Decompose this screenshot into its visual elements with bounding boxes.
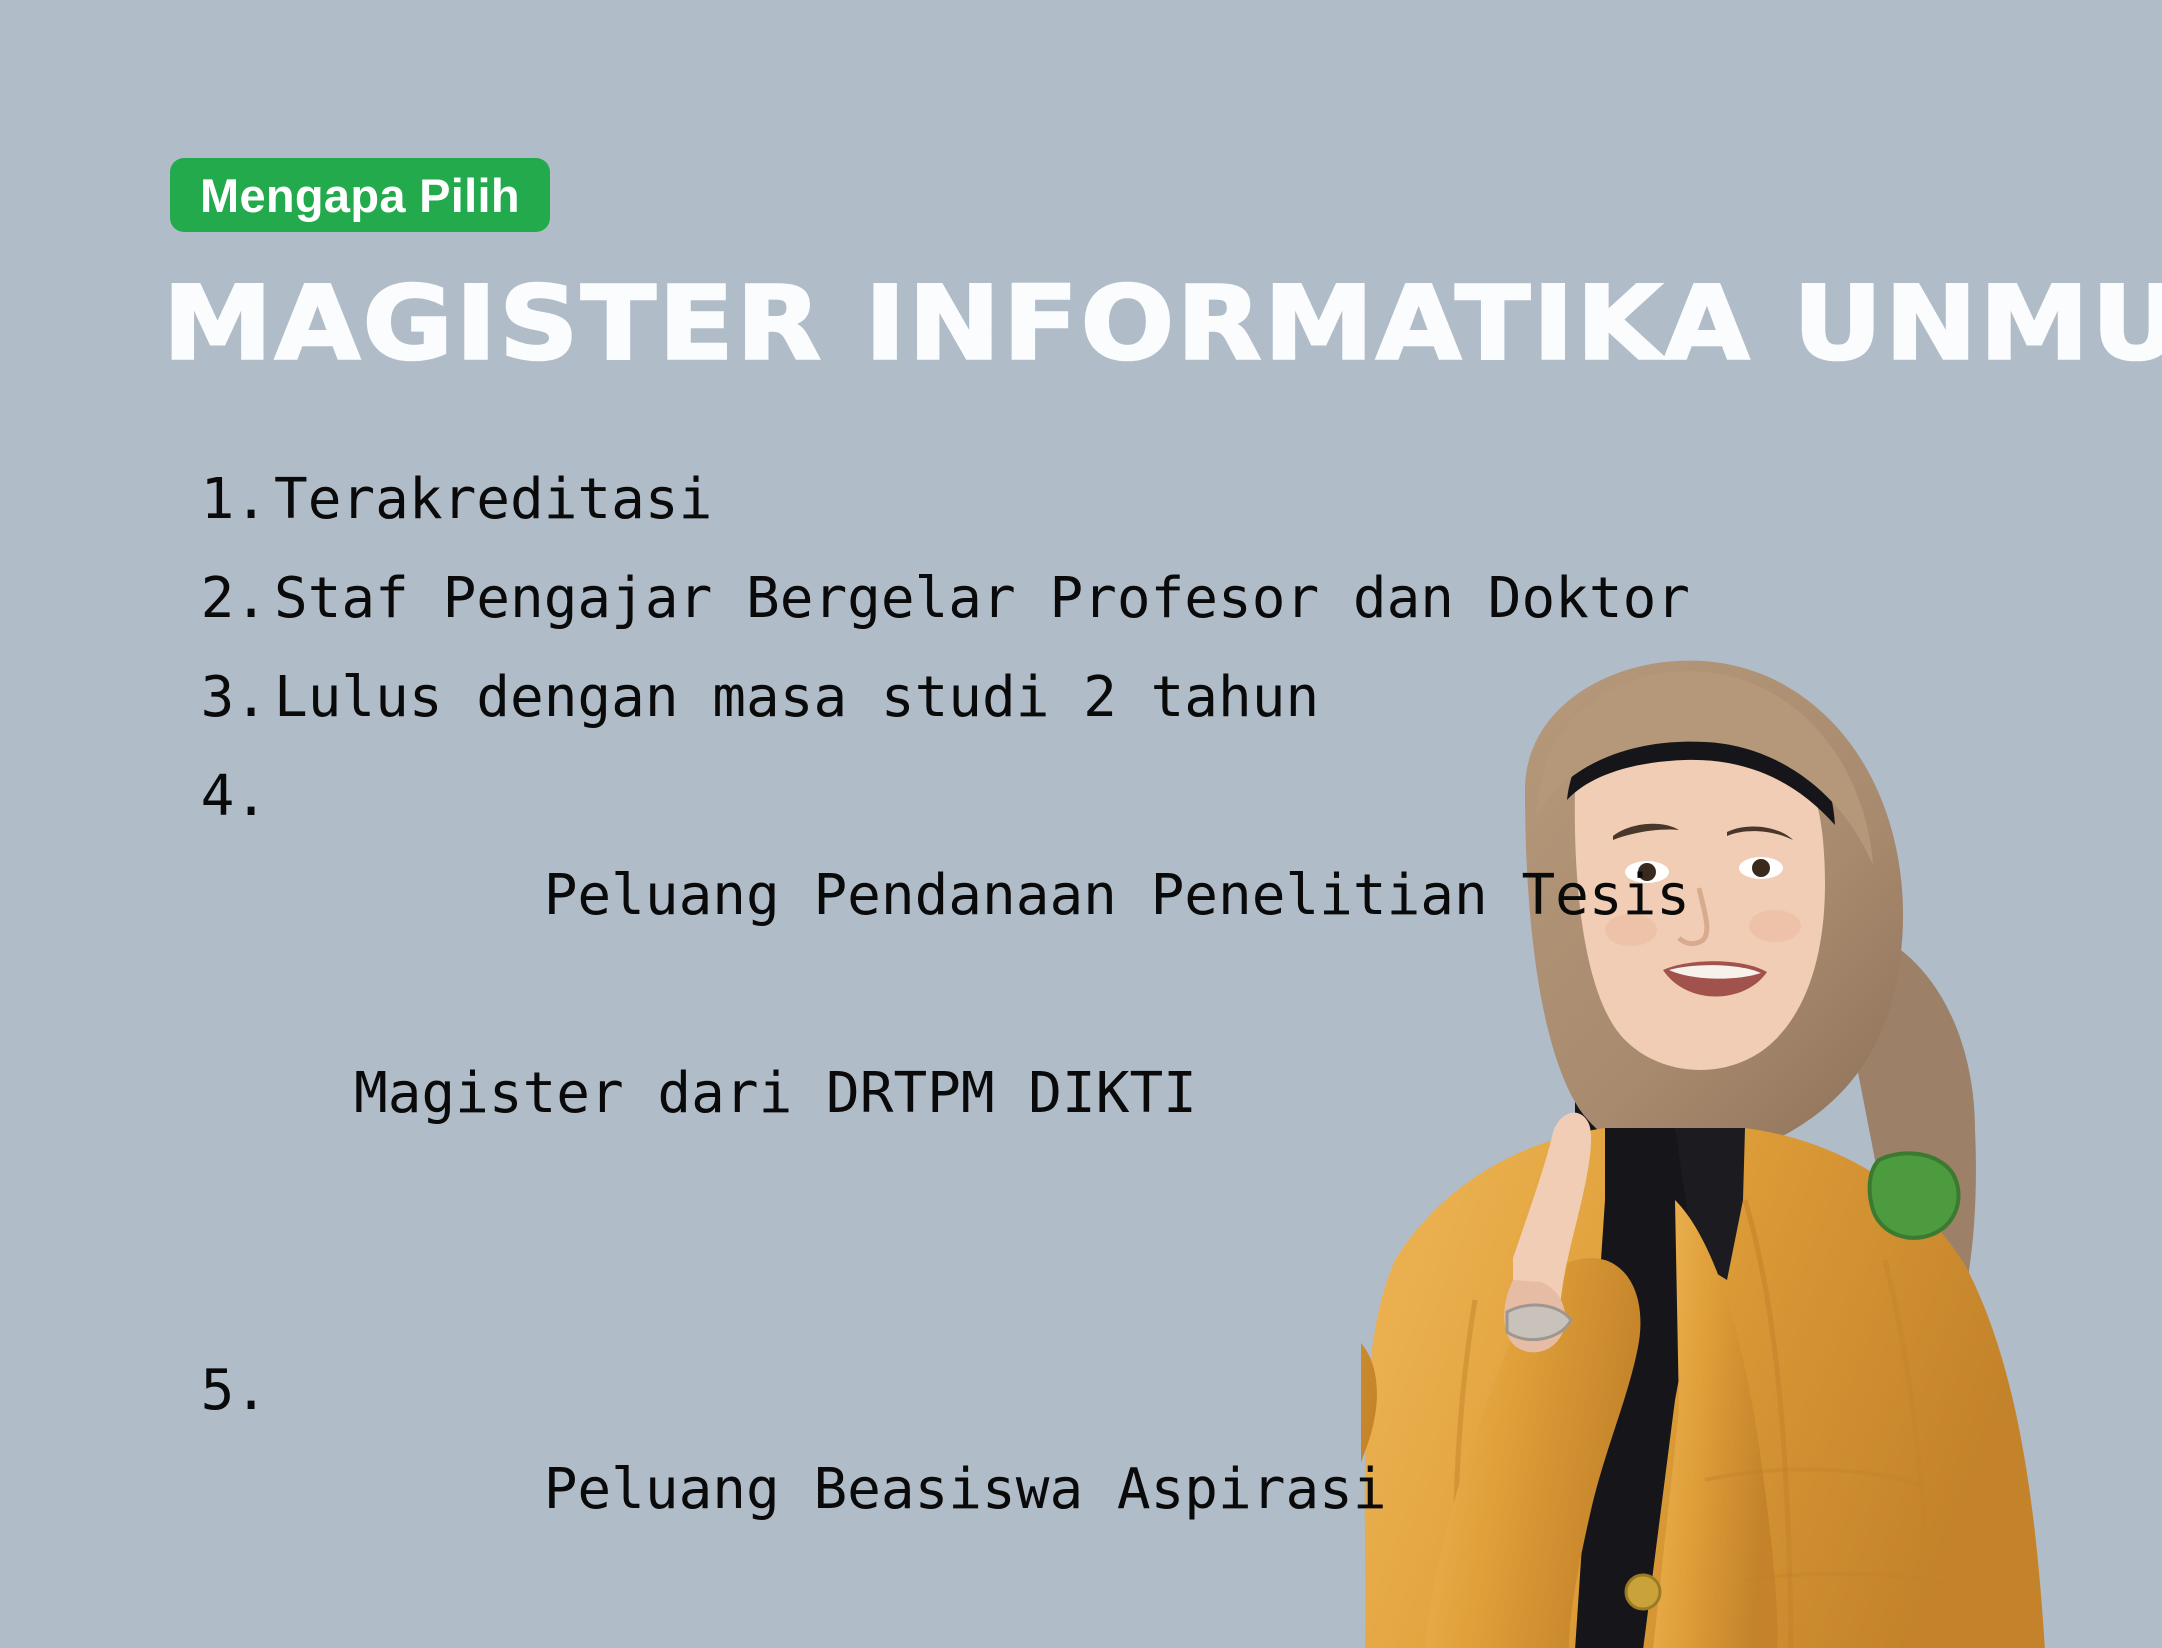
list-item-number: 1.: [186, 450, 274, 549]
list-item-line1: Peluang Beasiswa Aspirasi: [544, 1457, 1387, 1522]
list-item-number: 2.: [186, 549, 274, 648]
list-item: 4. Peluang Pendanaan Penelitian Tesis Ma…: [186, 747, 1906, 1341]
list-item-text: Lulus dengan masa studi 2 tahun: [274, 648, 1906, 747]
eyebrow-badge: Mengapa Pilih: [170, 158, 550, 232]
poster-canvas: Mengapa Pilih MAGISTER INFORMATIKA UNMUL: [0, 0, 2162, 1648]
list-item-number: 3.: [186, 648, 274, 747]
page-title: MAGISTER INFORMATIKA UNMUL: [163, 276, 1902, 371]
list-item-line2: dari KOMINFO: [274, 1638, 1906, 1648]
list-item-number: 5.: [186, 1341, 274, 1440]
list-item: 2. Staf Pengajar Bergelar Profesor dan D…: [186, 549, 1906, 648]
list-item: 3. Lulus dengan masa studi 2 tahun: [186, 648, 1906, 747]
list-item-line2: Magister dari DRTPM DIKTI: [274, 1044, 1906, 1143]
list-item: 1. Terakreditasi: [186, 450, 1906, 549]
benefits-list: 1. Terakreditasi 2. Staf Pengajar Bergel…: [186, 450, 1906, 1648]
list-item-text: Staf Pengajar Bergelar Profesor dan Dokt…: [274, 549, 1906, 648]
list-item-line1: Peluang Pendanaan Penelitian Tesis: [544, 863, 1690, 928]
list-item: 5. Peluang Beasiswa Aspirasi dari KOMINF…: [186, 1341, 1906, 1648]
list-item-text: Peluang Pendanaan Penelitian Tesis Magis…: [274, 747, 1906, 1341]
list-item-text: Peluang Beasiswa Aspirasi dari KOMINFO: [274, 1341, 1906, 1648]
list-item-number: 4.: [186, 747, 274, 846]
list-item-text: Terakreditasi: [274, 450, 1906, 549]
